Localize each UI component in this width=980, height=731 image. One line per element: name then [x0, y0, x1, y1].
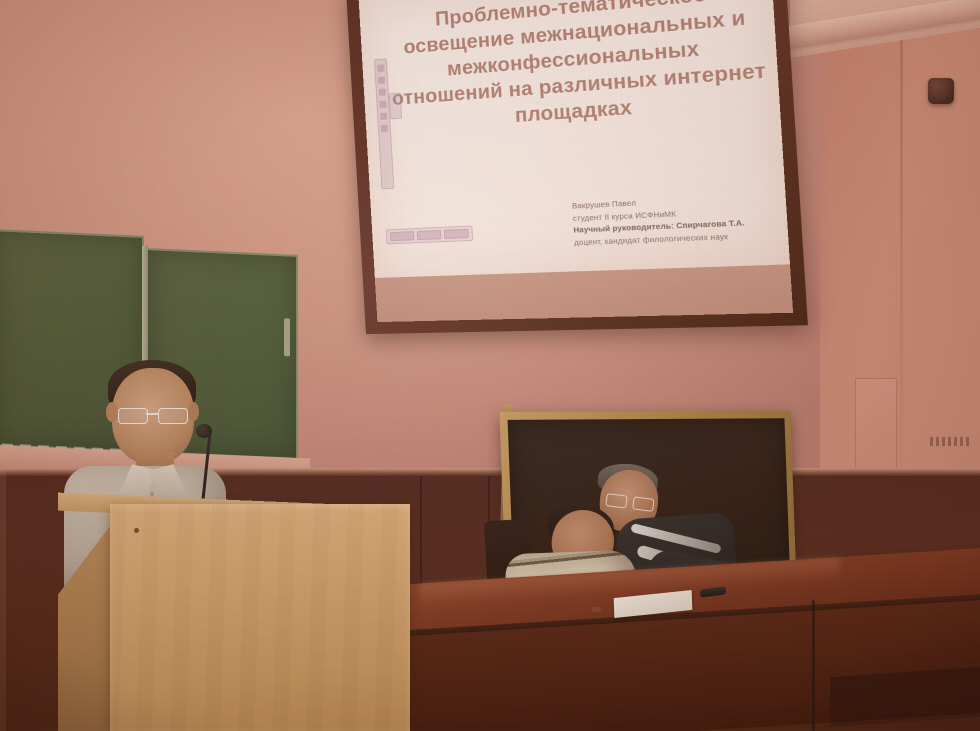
taskbar-button[interactable]: [390, 231, 414, 241]
table-shadow-panel: [830, 667, 980, 727]
projection-screen: Проблемно-тематическое освещение межнаци…: [356, 0, 764, 334]
toolbar-handle[interactable]: [389, 92, 402, 119]
taskbar-button[interactable]: [444, 229, 469, 239]
toolbar-button[interactable]: [379, 89, 386, 97]
microphone-icon: [196, 424, 212, 438]
presenter-ear: [106, 402, 118, 422]
toolbar-button[interactable]: [381, 125, 388, 132]
projection-screen-surface: Проблемно-тематическое освещение межнаци…: [359, 0, 793, 322]
wall-panel-outline: [855, 378, 897, 468]
wall-mark: [930, 437, 970, 446]
presentation-photo-scene: Проблемно-тематическое освещение межнаци…: [0, 0, 980, 731]
chalkboard-clip: [284, 318, 290, 356]
wall-speaker-icon: [928, 78, 954, 104]
wall-corner: [900, 40, 903, 460]
slide-title: Проблемно-тематическое освещение межнаци…: [387, 0, 769, 137]
presenter-glasses-icon: [118, 408, 190, 423]
presenter-glasses-bridge: [146, 413, 158, 415]
media-player-taskbar[interactable]: [386, 226, 473, 245]
toolbar-button[interactable]: [378, 77, 385, 85]
toolbar-button[interactable]: [380, 113, 387, 120]
small-object-on-table: [592, 607, 601, 612]
slide-byline: Вакрушев Павел студент II курса ИСФНиМК …: [572, 190, 782, 249]
wooden-podium: [110, 504, 410, 731]
table-panel-seam: [812, 600, 815, 731]
podium-screw-hole: [134, 528, 139, 533]
toolbar-button[interactable]: [377, 64, 384, 72]
projected-slide: Проблемно-тематическое освещение межнаци…: [359, 0, 793, 278]
toolbar-button[interactable]: [379, 101, 386, 109]
taskbar-button[interactable]: [417, 230, 442, 240]
